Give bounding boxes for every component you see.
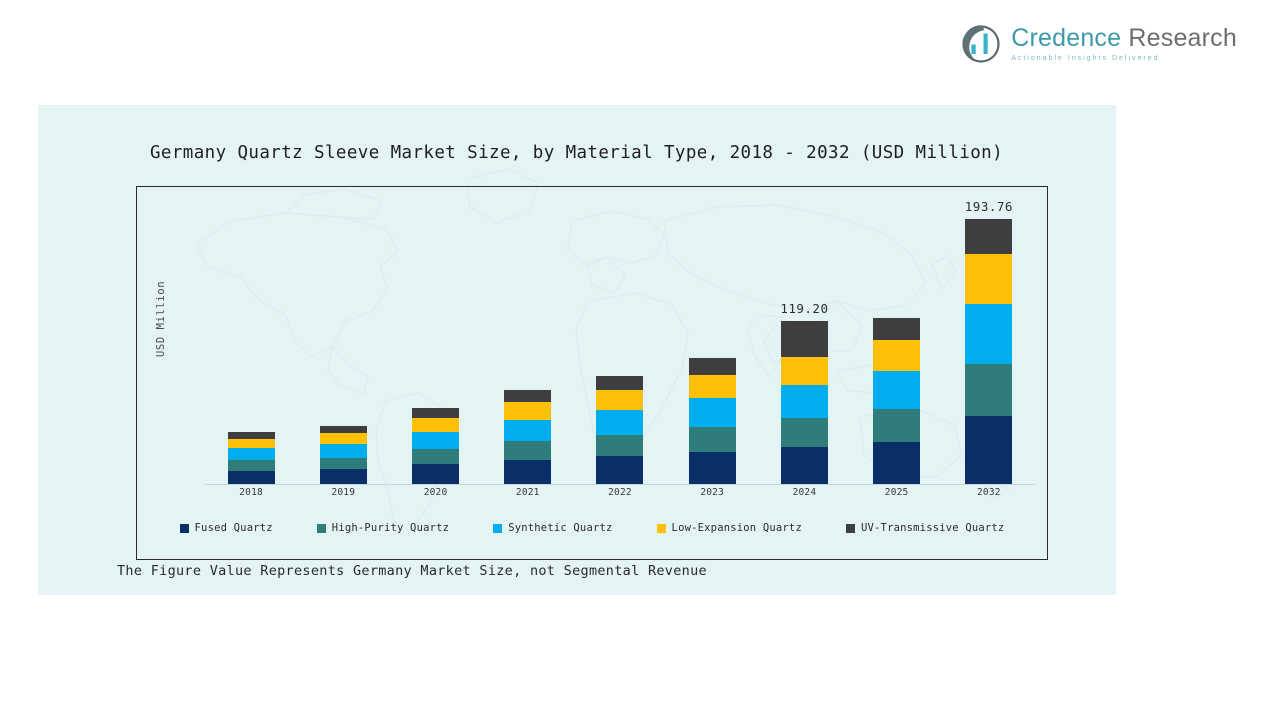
bar-segment bbox=[689, 398, 736, 427]
bar-segment bbox=[504, 441, 551, 460]
legend-label: Synthetic Quartz bbox=[508, 522, 612, 534]
bar-column bbox=[209, 432, 293, 484]
chart-footnote: The Figure Value Represents Germany Mark… bbox=[117, 563, 707, 579]
plot-region: 119.20193.76 bbox=[205, 197, 1035, 485]
chart-legend: Fused QuartzHigh-Purity QuartzSynthetic … bbox=[137, 522, 1047, 534]
brand-text-block: Credence Research Actionable Insights De… bbox=[1011, 26, 1237, 62]
brand-name-part1: Credence bbox=[1011, 24, 1121, 52]
bar-value-label: 119.20 bbox=[780, 301, 828, 316]
bar-segment bbox=[504, 402, 551, 420]
bar-segment bbox=[504, 390, 551, 403]
bar-segment bbox=[228, 448, 275, 460]
stacked-bar[interactable] bbox=[873, 318, 920, 484]
stacked-bar[interactable] bbox=[781, 321, 828, 484]
bar-segment bbox=[228, 471, 275, 484]
bar-segment bbox=[504, 460, 551, 484]
x-axis-tick: 2032 bbox=[947, 487, 1031, 498]
bar-column bbox=[578, 376, 662, 484]
bar-segment bbox=[596, 456, 643, 484]
bar-segment bbox=[228, 432, 275, 439]
stacked-bar[interactable] bbox=[504, 390, 551, 484]
legend-label: UV-Transmissive Quartz bbox=[861, 522, 1004, 534]
x-axis-tick: 2019 bbox=[301, 487, 385, 498]
bar-segment bbox=[689, 452, 736, 484]
legend-swatch-icon bbox=[657, 524, 666, 533]
brand-name: Credence Research bbox=[1011, 26, 1237, 51]
bar-segment bbox=[596, 435, 643, 456]
bar-column bbox=[301, 426, 385, 484]
x-axis-tick: 2024 bbox=[763, 487, 847, 498]
bar-segment bbox=[320, 433, 367, 444]
bar-segment bbox=[689, 427, 736, 452]
bar-segment bbox=[781, 418, 828, 447]
bar-segment bbox=[412, 449, 459, 464]
bar-segment bbox=[965, 416, 1012, 484]
bar-value-label: 193.76 bbox=[965, 199, 1013, 214]
bar-segment bbox=[320, 458, 367, 469]
bar-segment bbox=[412, 408, 459, 418]
bar-segment bbox=[873, 371, 920, 409]
bar-segment bbox=[781, 357, 828, 384]
legend-swatch-icon bbox=[180, 524, 189, 533]
stacked-bar[interactable] bbox=[412, 408, 459, 485]
bar-segment bbox=[965, 254, 1012, 304]
bar-chart-circle-icon bbox=[961, 24, 1001, 64]
bar-segment bbox=[873, 318, 920, 340]
bar-segment bbox=[412, 432, 459, 449]
bar-segment bbox=[596, 390, 643, 410]
chart-area: USD Million 119.20193.76 201820192020202… bbox=[136, 186, 1048, 560]
chart-panel: Germany Quartz Sleeve Market Size, by Ma… bbox=[38, 105, 1116, 595]
bar-segment bbox=[320, 426, 367, 434]
bar-column bbox=[486, 390, 570, 484]
x-axis-tick: 2022 bbox=[578, 487, 662, 498]
bar-segment bbox=[320, 444, 367, 457]
x-axis-tick-labels: 201820192020202120222023202420252032 bbox=[205, 487, 1035, 498]
bar-segment bbox=[965, 219, 1012, 254]
legend-label: High-Purity Quartz bbox=[332, 522, 449, 534]
bar-segment bbox=[596, 410, 643, 435]
bar-segment bbox=[781, 385, 828, 418]
x-axis-line bbox=[205, 484, 1035, 485]
legend-item[interactable]: UV-Transmissive Quartz bbox=[846, 522, 1004, 534]
legend-swatch-icon bbox=[493, 524, 502, 533]
stacked-bar[interactable] bbox=[965, 219, 1012, 484]
legend-item[interactable]: Low-Expansion Quartz bbox=[657, 522, 802, 534]
bar-segment bbox=[873, 442, 920, 484]
bar-segment bbox=[412, 418, 459, 432]
bar-column bbox=[855, 318, 939, 484]
x-axis-tick: 2021 bbox=[486, 487, 570, 498]
bar-column: 119.20 bbox=[763, 321, 847, 484]
legend-item[interactable]: High-Purity Quartz bbox=[317, 522, 449, 534]
bar-segment bbox=[873, 340, 920, 371]
bar-segment bbox=[689, 375, 736, 399]
bar-segment bbox=[228, 439, 275, 449]
bar-segment bbox=[320, 469, 367, 484]
page-title: Germany Quartz Sleeve Market Size, by Ma… bbox=[150, 143, 1003, 163]
legend-swatch-icon bbox=[846, 524, 855, 533]
brand-tagline: Actionable Insights Delivered bbox=[1011, 55, 1237, 62]
x-axis-tick: 2018 bbox=[209, 487, 293, 498]
bar-segment bbox=[965, 304, 1012, 364]
bar-column bbox=[394, 408, 478, 485]
x-axis-tick: 2020 bbox=[394, 487, 478, 498]
bar-segment bbox=[965, 364, 1012, 416]
stacked-bar[interactable] bbox=[596, 376, 643, 484]
legend-item[interactable]: Synthetic Quartz bbox=[493, 522, 612, 534]
legend-item[interactable]: Fused Quartz bbox=[180, 522, 273, 534]
stacked-bar[interactable] bbox=[320, 426, 367, 484]
x-axis-tick: 2023 bbox=[670, 487, 754, 498]
brand-name-part2: Research bbox=[1128, 24, 1237, 52]
bar-segment bbox=[689, 358, 736, 375]
stacked-bar[interactable] bbox=[228, 432, 275, 484]
y-axis-label: USD Million bbox=[155, 281, 167, 357]
bar-segment bbox=[781, 321, 828, 357]
legend-label: Fused Quartz bbox=[195, 522, 273, 534]
brand-header: Credence Research Actionable Insights De… bbox=[961, 24, 1237, 64]
bar-series-container: 119.20193.76 bbox=[205, 197, 1035, 484]
bar-segment bbox=[781, 447, 828, 484]
legend-swatch-icon bbox=[317, 524, 326, 533]
stacked-bar[interactable] bbox=[689, 358, 736, 484]
bar-segment bbox=[412, 464, 459, 484]
bar-column: 193.76 bbox=[947, 219, 1031, 484]
x-axis-tick: 2025 bbox=[855, 487, 939, 498]
bar-segment bbox=[596, 376, 643, 390]
bar-column bbox=[670, 358, 754, 484]
bar-segment bbox=[228, 460, 275, 470]
bar-segment bbox=[504, 420, 551, 441]
legend-label: Low-Expansion Quartz bbox=[672, 522, 802, 534]
bar-segment bbox=[873, 409, 920, 442]
